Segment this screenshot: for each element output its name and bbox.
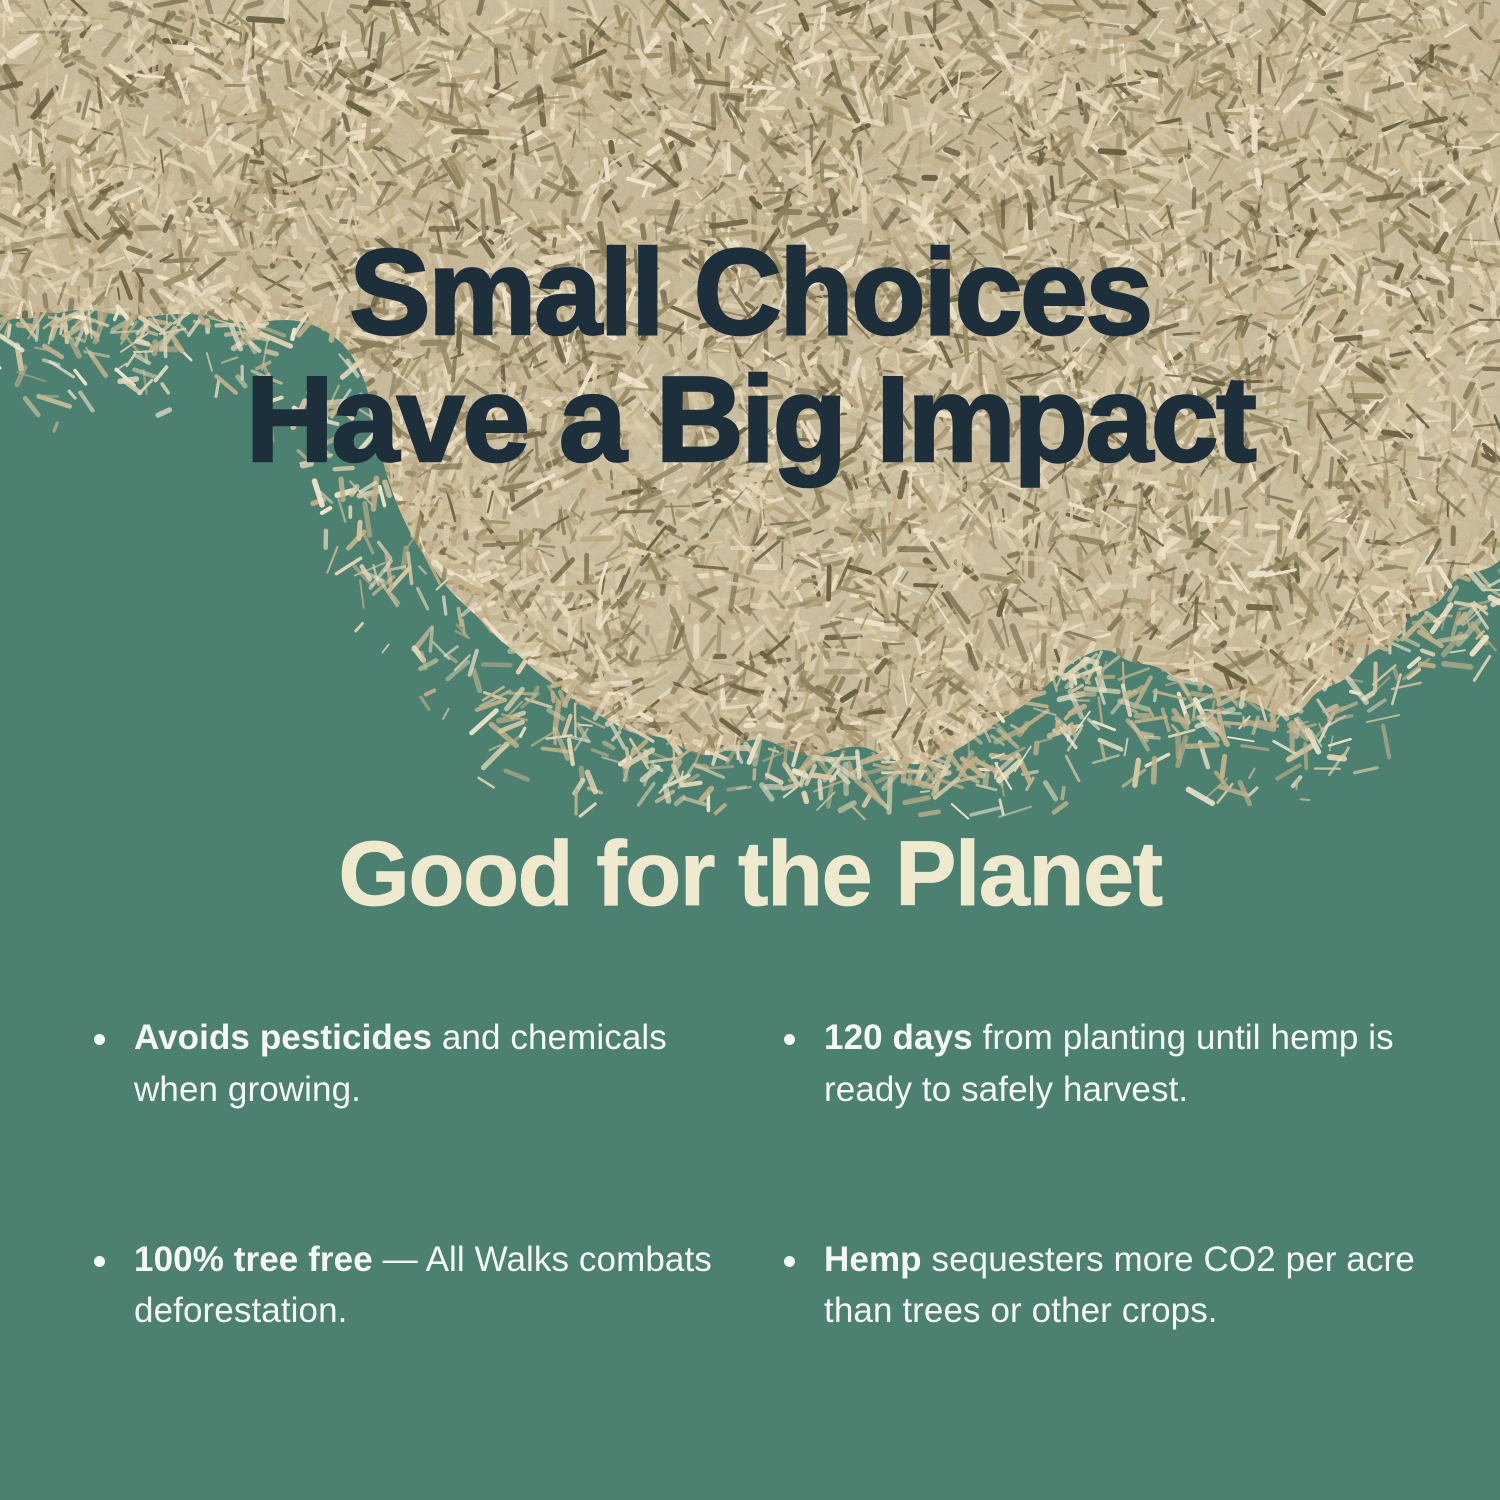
bullet-lead: 100% tree free bbox=[134, 1240, 373, 1279]
benefits-list: Avoids pesticides and chemicals when gro… bbox=[88, 1012, 1418, 1337]
bullet-lead: 120 days bbox=[824, 1018, 973, 1057]
promo-poster: Small Choices Have a Big Impact Good for… bbox=[0, 0, 1500, 1500]
bullet-dot-icon bbox=[784, 1256, 795, 1267]
hemp-hurd-texture-image bbox=[0, 0, 1500, 820]
section-subtitle: Good for the Planet bbox=[0, 826, 1500, 923]
bullet-dot-icon bbox=[784, 1034, 795, 1045]
bullet-lead: Avoids pesticides bbox=[134, 1018, 432, 1057]
bullet-dot-icon bbox=[94, 1256, 105, 1267]
bullet-lead: Hemp bbox=[824, 1240, 922, 1279]
bullet-dot-icon bbox=[94, 1034, 105, 1045]
hemp-texture-svg bbox=[0, 0, 1500, 820]
list-item: Avoids pesticides and chemicals when gro… bbox=[88, 1012, 728, 1116]
list-item: 100% tree free — All Walks combats defor… bbox=[88, 1234, 728, 1338]
list-item: 120 days from planting until hemp is rea… bbox=[778, 1012, 1418, 1116]
list-item: Hemp sequesters more CO2 per acre than t… bbox=[778, 1234, 1418, 1338]
